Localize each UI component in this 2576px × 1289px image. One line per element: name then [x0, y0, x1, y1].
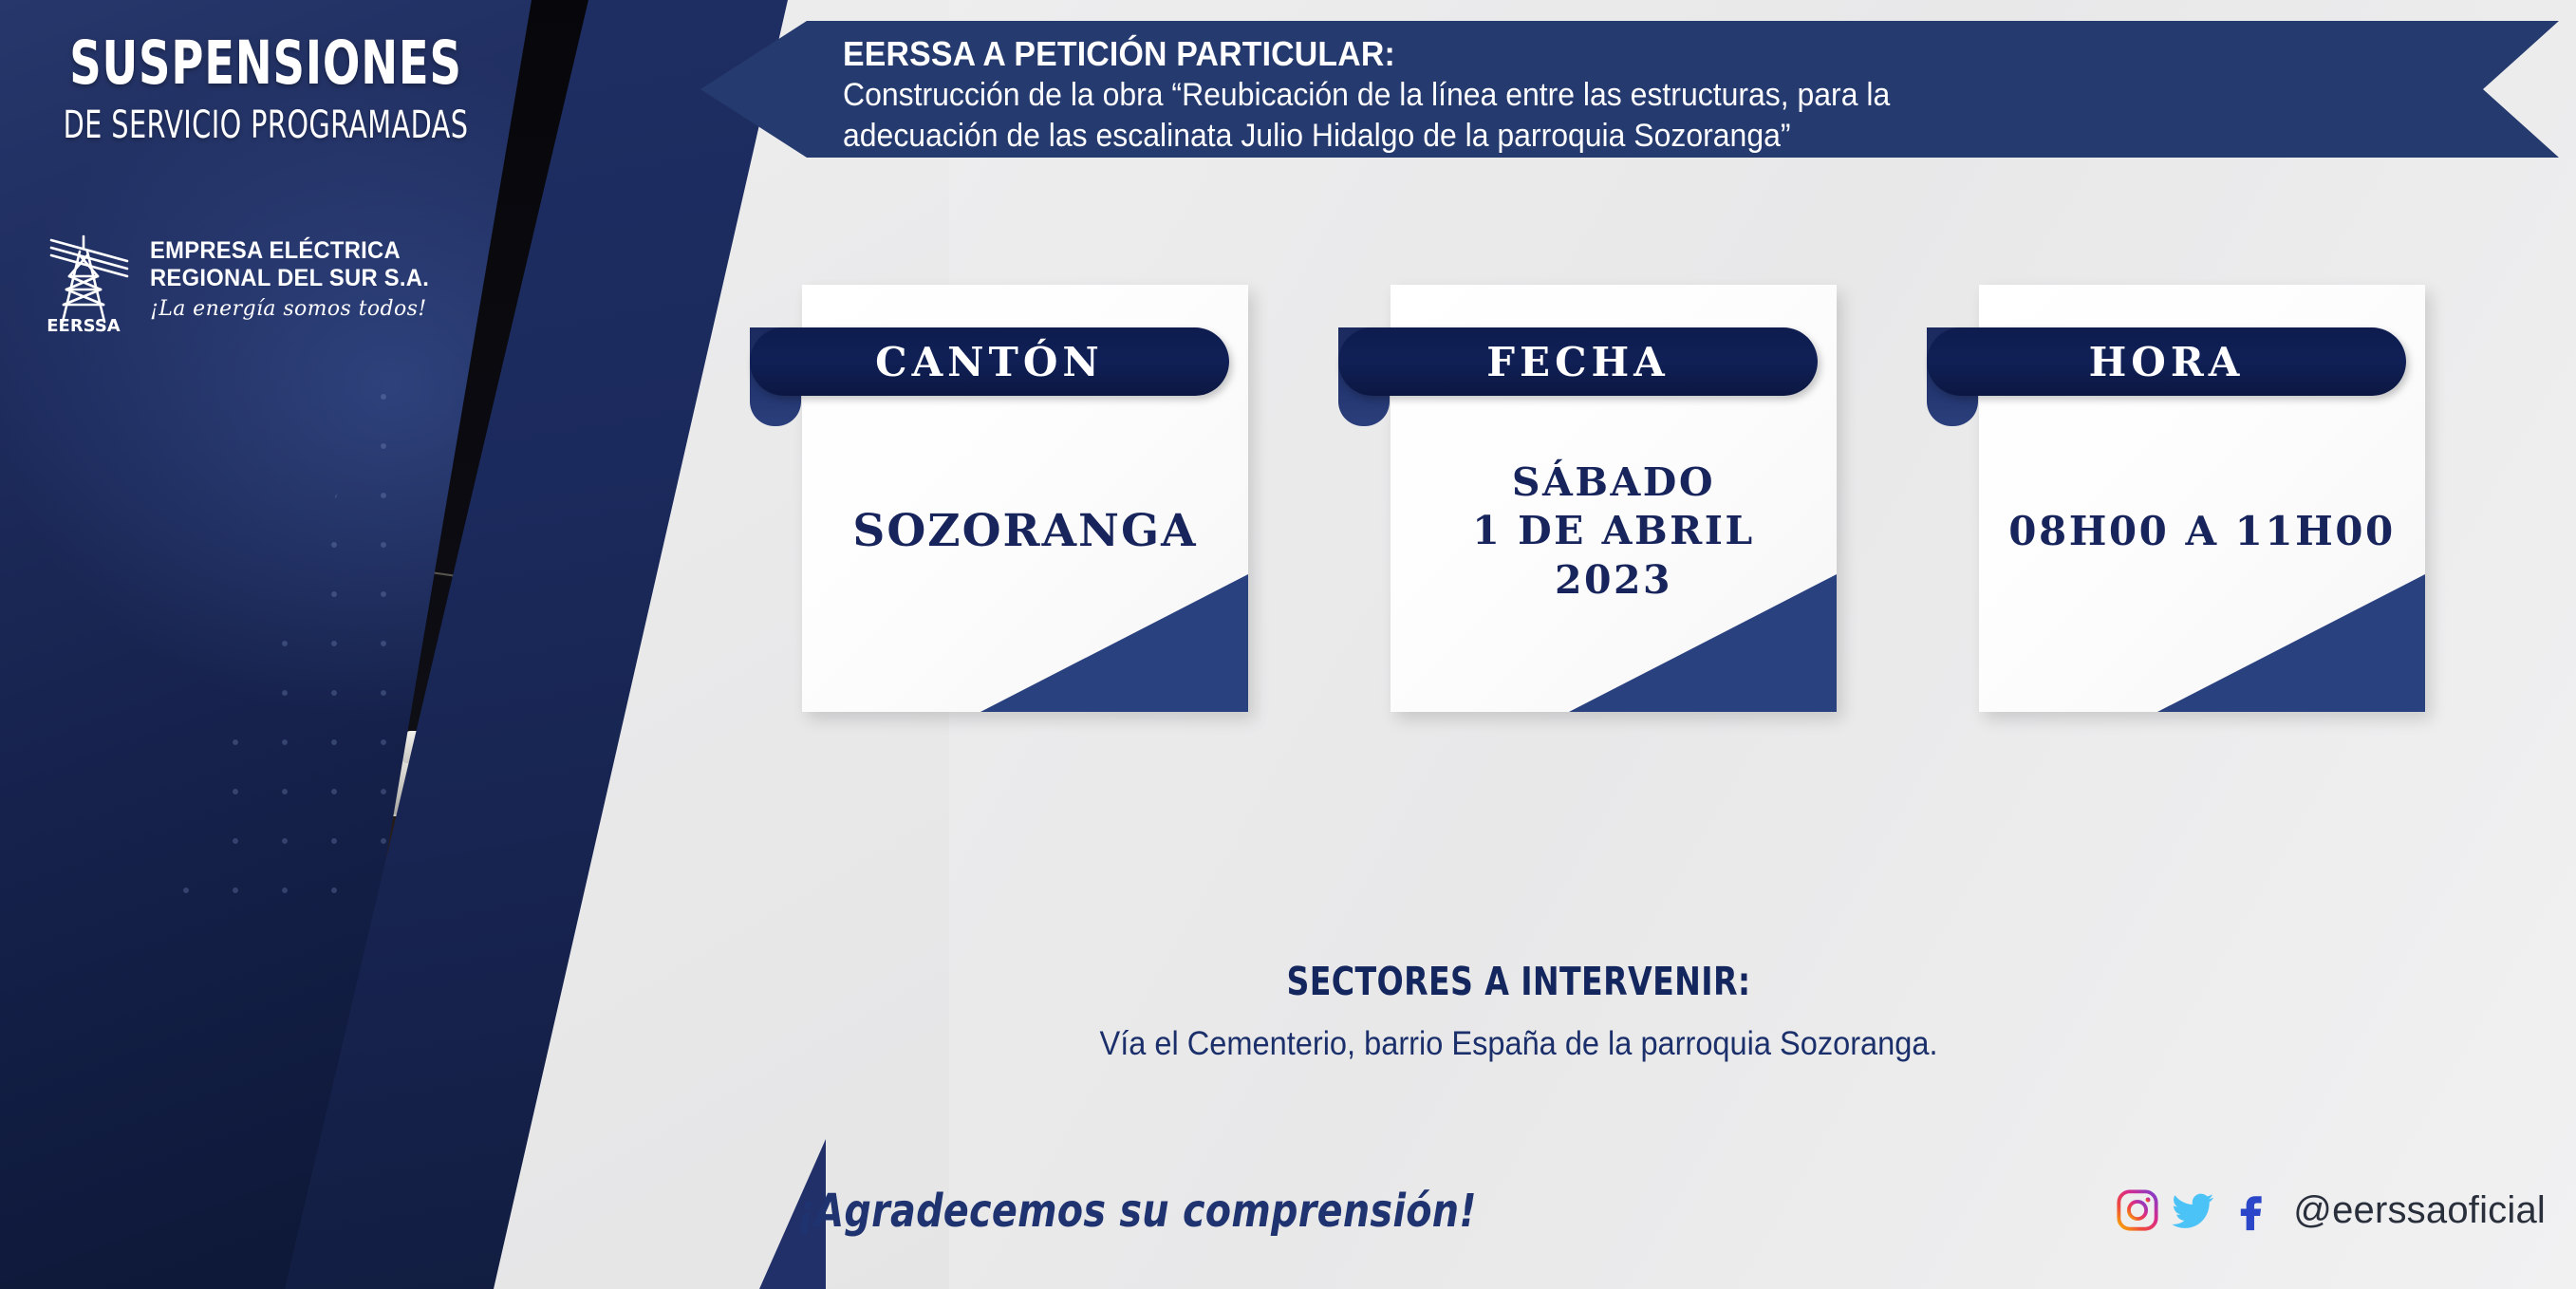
card-value-fecha: SÁBADO1 DE ABRIL2023 [1391, 427, 1837, 636]
sectors-title: SECTORES A INTERVENIR: [801, 959, 2236, 1004]
company-line-1: EMPRESA ELÉCTRICA [150, 237, 429, 265]
instagram-icon[interactable] [2116, 1188, 2159, 1232]
thanks-message: ¡Agradecemos su comprensión! [797, 1185, 1477, 1238]
card-fecha: FECHA SÁBADO1 DE ABRIL2023 [1338, 285, 1784, 712]
card-canton: CANTÓN SOZORANGA [750, 285, 1196, 712]
card-label-text: HORA [2089, 339, 2245, 385]
banner-description-line-1: Construcción de la obra “Reubicación de … [843, 76, 2349, 115]
card-value-canton: SOZORANGA [802, 427, 1248, 636]
twitter-icon[interactable] [2172, 1188, 2215, 1232]
banner-description-line-2: adecuación de las escalinata Julio Hidal… [843, 117, 2349, 156]
social-links: @eerssaoficial [2116, 1188, 2546, 1232]
card-label-text: CANTÓN [875, 339, 1104, 385]
sectors-body: Vía el Cementerio, barrio España de la p… [777, 1025, 2260, 1063]
card-hora: HORA 08H00 A 11H00 [1927, 285, 2373, 712]
card-label-pill: CANTÓN [750, 327, 1229, 396]
social-handle: @eerssaoficial [2293, 1189, 2546, 1232]
card-label-text: FECHA [1486, 339, 1670, 385]
banner-text-block: EERSSA A PETICIÓN PARTICULAR: Construcci… [843, 34, 2445, 156]
card-label-pill: FECHA [1338, 327, 1818, 396]
poster-headline-block: SUSPENSIONES DE SERVICIO PROGRAMADAS [0, 28, 532, 147]
info-cards-row: CANTÓN SOZORANGA FECHA SÁBADO1 DE ABRIL2… [0, 285, 2576, 731]
announcement-banner: EERSSA A PETICIÓN PARTICULAR: Construcci… [700, 21, 2559, 158]
headline: SUSPENSIONES [47, 28, 483, 98]
card-label-pill: HORA [1927, 327, 2406, 396]
poster-canvas: SUSPENSIONES DE SERVICIO PROGRAMADAS [0, 0, 2576, 1289]
banner-title: EERSSA A PETICIÓN PARTICULAR: [843, 34, 2349, 74]
sectors-block: SECTORES A INTERVENIR: Vía el Cementerio… [721, 959, 2316, 1063]
card-value-hora: 08H00 A 11H00 [1979, 427, 2425, 636]
facebook-icon[interactable] [2228, 1188, 2271, 1232]
subheadline: DE SERVICIO PROGRAMADAS [53, 103, 478, 147]
